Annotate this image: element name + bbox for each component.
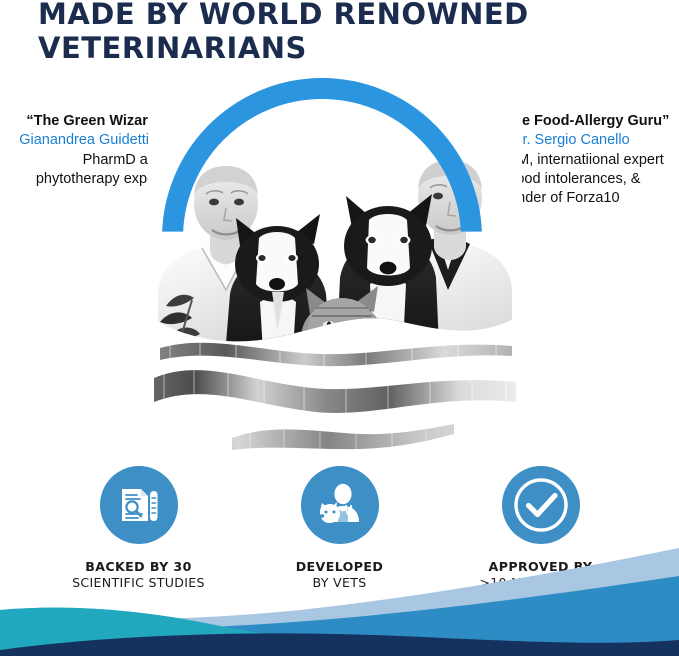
bottom-wave-decoration <box>0 546 679 656</box>
document-magnifier-testtube-icon <box>116 482 162 528</box>
badge-circle <box>301 466 379 544</box>
badge-circle <box>502 466 580 544</box>
headline-line-2: VETERINARIANS <box>38 32 598 66</box>
hero-photo-group <box>140 78 530 368</box>
badge-circle <box>100 466 178 544</box>
photo-wave-slice-3 <box>140 404 530 460</box>
vet-with-dog-stethoscope-icon <box>316 481 364 529</box>
credit-left-name: Gianandrea Guidetti <box>19 131 149 150</box>
headline-line-1: MADE BY WORLD RENOWNED <box>38 0 529 31</box>
dog-head <box>319 502 339 523</box>
poster-canvas: MADE BY WORLD RENOWNED VETERINARIANS “Th… <box>0 0 679 656</box>
check-circle-icon <box>512 476 570 534</box>
page-title: MADE BY WORLD RENOWNED VETERINARIANS <box>38 0 598 65</box>
